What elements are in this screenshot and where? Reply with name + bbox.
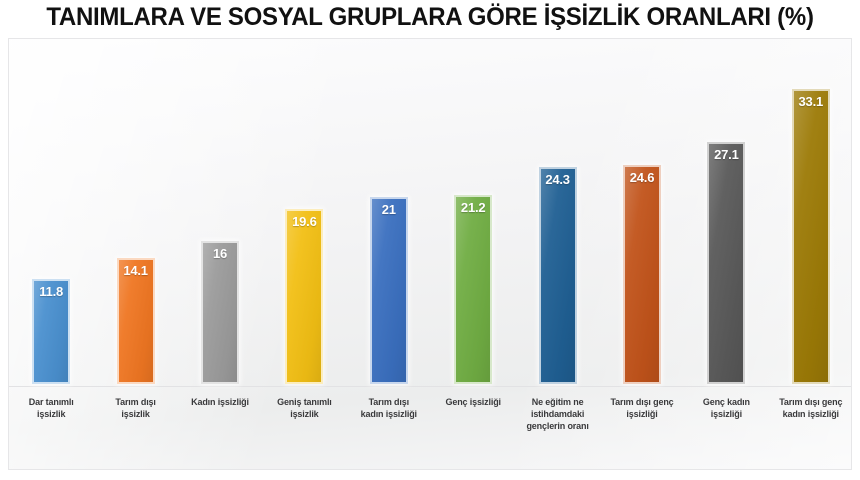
bar-rect[interactable] [539, 167, 577, 384]
bar-6[interactable]: 21.2 [454, 195, 492, 384]
bar-1[interactable]: 11.8 [32, 279, 70, 384]
category-label-line: işsizlik [264, 408, 344, 420]
category-label-line: Genç kadın [686, 396, 766, 408]
bar-gloss-overlay [34, 281, 68, 382]
category-label-line: Ne eğitim ne [517, 396, 597, 408]
bar-2[interactable]: 14.1 [117, 258, 155, 384]
category-label-line: kadın işsizliği [771, 408, 851, 420]
bar-gloss-overlay [119, 260, 153, 382]
category-label-line: Tarım dışı [95, 396, 175, 408]
category-label-5: Tarım dışıkadın işsizliği [349, 396, 429, 420]
bar-gloss-overlay [541, 169, 575, 382]
category-label-9: Genç kadınişsizliği [686, 396, 766, 420]
bar-gloss-overlay [287, 211, 321, 382]
category-label-3: Kadın işsizliği [180, 396, 260, 408]
category-label-line: Genç işsizliği [433, 396, 513, 408]
bar-7[interactable]: 24.3 [539, 167, 577, 384]
category-label-8: Tarım dışı gençişsizliği [602, 396, 682, 420]
bar-8[interactable]: 24.6 [623, 165, 661, 384]
bar-rect[interactable] [707, 142, 745, 384]
category-label-2: Tarım dışıişsizlik [95, 396, 175, 420]
category-label-line: işsizliği [602, 408, 682, 420]
bar-gloss-overlay [794, 91, 828, 382]
bar-rect[interactable] [201, 241, 239, 384]
category-label-6: Genç işsizliği [433, 396, 513, 408]
bar-5[interactable]: 21 [370, 197, 408, 384]
bar-9[interactable]: 27.1 [707, 142, 745, 384]
category-label-line: gençlerin oranı [517, 420, 597, 432]
bar-rect[interactable] [454, 195, 492, 384]
chart-screenshot: TANIMLARA VE SOSYAL GRUPLARA GÖRE İŞSİZL… [0, 0, 860, 480]
bar-gloss-overlay [372, 199, 406, 382]
bar-gloss-overlay [203, 243, 237, 382]
category-label-line: Dar tanımlı [11, 396, 91, 408]
category-label-1: Dar tanımlıişsizlik [11, 396, 91, 420]
category-label-line: istihdamdaki [517, 408, 597, 420]
category-label-line: kadın işsizliği [349, 408, 429, 420]
bar-rect[interactable] [623, 165, 661, 384]
category-label-7: Ne eğitim neistihdamdakigençlerin oranı [517, 396, 597, 432]
category-label-10: Tarım dışı gençkadın işsizliği [771, 396, 851, 420]
bar-rect[interactable] [792, 89, 830, 384]
category-label-line: işsizlik [11, 408, 91, 420]
category-label-line: Geniş tanımlı [264, 396, 344, 408]
category-label-line: Kadın işsizliği [180, 396, 260, 408]
bar-gloss-overlay [709, 144, 743, 382]
bar-4[interactable]: 19.6 [285, 209, 323, 384]
bar-10[interactable]: 33.1 [792, 89, 830, 384]
bar-gloss-overlay [456, 197, 490, 382]
category-label-line: işsizlik [95, 408, 175, 420]
bar-rect[interactable] [370, 197, 408, 384]
category-label-line: Tarım dışı genç [602, 396, 682, 408]
bar-rect[interactable] [285, 209, 323, 384]
bar-gloss-overlay [625, 167, 659, 382]
bar-3[interactable]: 16 [201, 241, 239, 384]
bar-rect[interactable] [117, 258, 155, 384]
category-label-line: Tarım dışı [349, 396, 429, 408]
bar-rect[interactable] [32, 279, 70, 384]
page-title: TANIMLARA VE SOSYAL GRUPLARA GÖRE İŞSİZL… [17, 2, 843, 32]
category-label-line: Tarım dışı genç [771, 396, 851, 408]
plot-area: 11.814.11619.62121.224.324.627.133.1 Dar… [8, 38, 852, 470]
category-label-line: işsizliği [686, 408, 766, 420]
category-label-4: Geniş tanımlıişsizlik [264, 396, 344, 420]
